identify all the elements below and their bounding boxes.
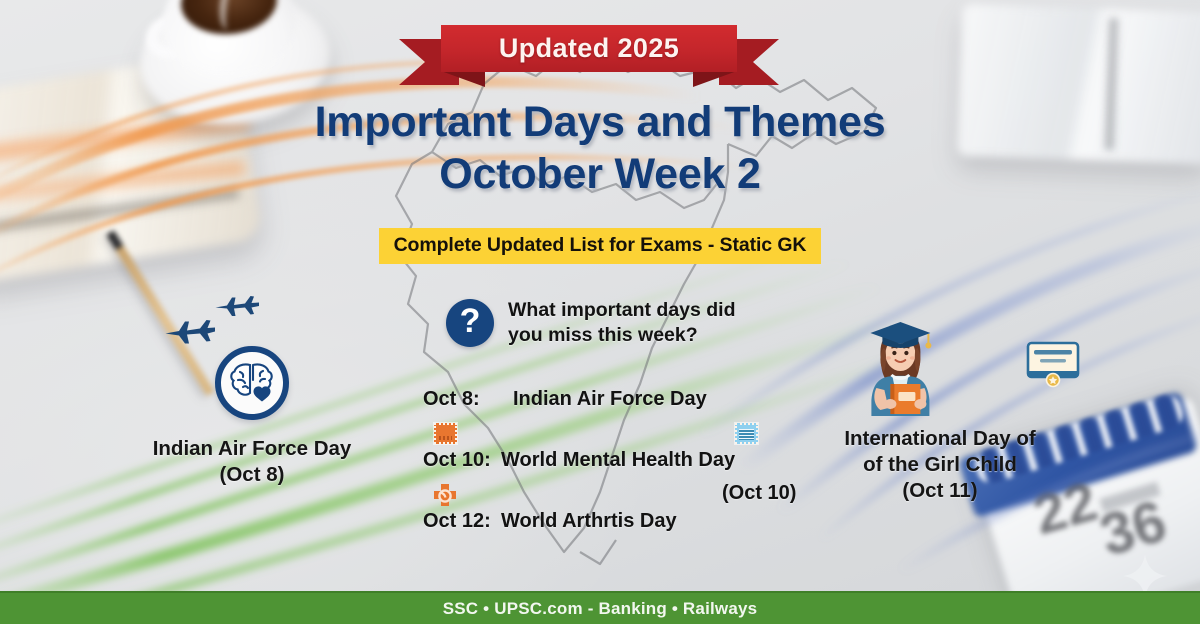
day-name: World Arthrtis Day [501,510,677,533]
brain-heart-badge-icon [215,346,289,420]
date-label: Oct 12: [423,510,501,533]
date-label: Oct 10: [423,449,501,472]
background-coffee-liquid [178,0,279,38]
updated-badge-ribbon: Updated 2025 [399,25,779,87]
joint-pain-icon [432,483,458,509]
postage-stamp-blue-icon [735,423,758,444]
label-line-2: (Oct 8) [118,462,386,488]
question-prompt: ? What important days did you miss this … [446,298,736,348]
important-days-list: Oct 8: Indian Air Force Day Oct 10: Worl… [423,388,823,533]
list-item: Oct 8: Indian Air Force Day [423,388,823,411]
highlight-label-girl-child: International Day of of the Girl Child (… [805,426,1075,503]
list-item: Oct 10: World Mental Health Day [423,449,823,472]
question-text: What important days did you miss this we… [508,298,736,348]
brain-heart-icon [227,360,277,406]
postage-stamp-orange-icon [434,423,457,444]
question-line-2: you miss this week? [508,323,736,348]
label-line-1: Indian Air Force Day [118,436,386,462]
footer-text: SSC • UPSC.com - Banking • Railways [443,599,758,619]
graduate-girl-group [805,322,1075,418]
fighter-jet-icon [164,318,216,348]
background-steam [216,0,245,31]
question-mark-icon: ? [446,299,494,347]
highlight-label-air-force: Indian Air Force Day (Oct 8) [118,436,386,488]
updated-badge-label: Updated 2025 [499,33,679,64]
highlight-international-day-girl-child: International Day of of the Girl Child (… [805,322,1075,503]
day-name: World Mental Health Day [501,449,735,472]
graduate-girl-icon [850,322,1010,418]
subtitle-container: Complete Updated List for Exams - Static… [0,228,1200,264]
title-line-2: October Week 2 [0,148,1200,200]
day-name: Indian Air Force Day [513,388,707,411]
title-line-1: Important Days and Themes [0,96,1200,148]
page-title: Important Days and Themes October Week 2 [0,96,1200,201]
background-coffee-cup [159,0,298,78]
fighter-jets-icon [118,292,386,346]
date-label: Oct 8: [423,388,513,411]
ribbon-body: Updated 2025 [441,25,737,72]
label-line-3: (Oct 11) [805,478,1075,504]
diploma-certificate-icon [1025,340,1081,388]
label-line-1: International Day of [805,426,1075,452]
label-line-2: of the Girl Child [805,452,1075,478]
fighter-jet-icon [214,294,260,320]
question-line-1: What important days did [508,298,736,323]
poster-canvas: 22 36 [0,0,1200,624]
oct10-note: (Oct 10) [722,482,796,505]
background-cup-handle [142,11,199,63]
subtitle-highlight: Complete Updated List for Exams - Static… [379,228,822,264]
list-item: Oct 12: World Arthrtis Day [423,510,823,533]
highlight-indian-air-force-day: Indian Air Force Day (Oct 8) [118,292,386,488]
footer-bar: SSC • UPSC.com - Banking • Railways [0,591,1200,624]
